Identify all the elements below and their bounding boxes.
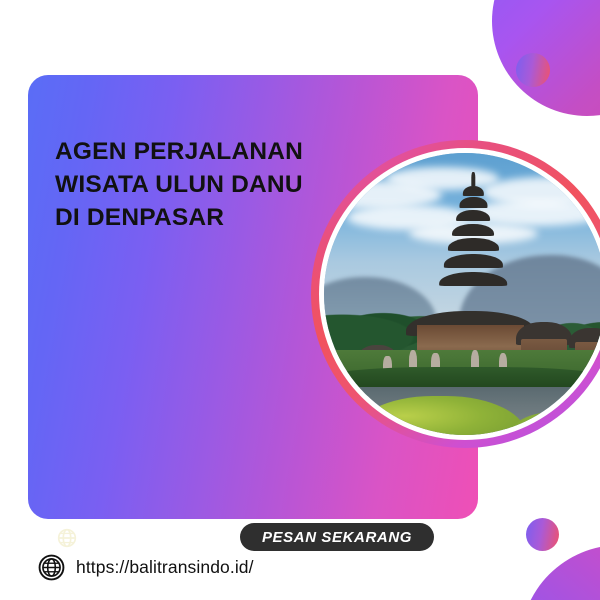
pagoda-tier	[444, 254, 502, 267]
pagoda-tier	[460, 197, 487, 207]
circular-photo-frame	[311, 140, 600, 448]
temple-photo	[324, 153, 600, 435]
pagoda-tier	[440, 272, 508, 286]
globe-icon	[38, 554, 65, 581]
pagoda-tier	[463, 186, 483, 195]
pagoda-tier	[457, 210, 491, 221]
photo-statue	[409, 350, 417, 367]
decorative-blob-bottom-right	[520, 545, 600, 600]
pagoda-tier	[448, 238, 498, 251]
photo-hedge	[324, 367, 600, 387]
poster-canvas: AGEN PERJALANAN WISATA ULUN DANU DI DENP…	[0, 0, 600, 600]
decorative-dot-bottom-right	[526, 518, 559, 551]
decorative-blob-top-right	[492, 0, 600, 116]
decorative-dot-top-right	[516, 53, 550, 87]
pagoda-tier	[452, 224, 494, 236]
footer-url-row[interactable]: https://balitransindo.id/	[38, 554, 254, 581]
photo-statue	[471, 350, 479, 367]
website-url[interactable]: https://balitransindo.id/	[76, 557, 254, 578]
page-title: AGEN PERJALANAN WISATA ULUN DANU DI DENP…	[55, 135, 355, 234]
globe-watermark-icon	[57, 528, 77, 548]
photo-statue	[431, 353, 439, 367]
pesan-sekarang-button[interactable]: PESAN SEKARANG	[240, 523, 434, 551]
photo-statue	[499, 353, 507, 367]
